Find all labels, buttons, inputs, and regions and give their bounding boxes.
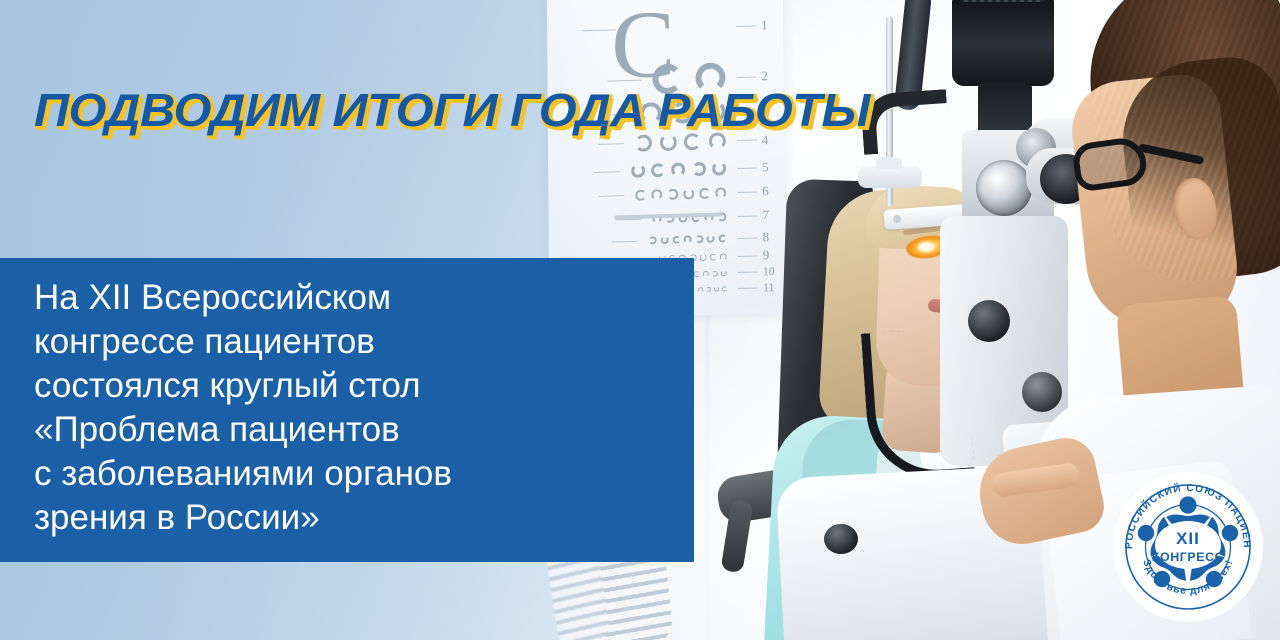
landolt-c-optotype: [692, 162, 706, 176]
logo-center-roman: XII: [1176, 529, 1200, 548]
landolt-c-optotype: [672, 236, 680, 244]
landolt-c-optotype: [712, 161, 726, 175]
banner-root: C 1234567891011: [0, 0, 1280, 640]
eye-chart-row: 1: [547, 17, 783, 40]
eye-chart-trailer-line: [737, 215, 757, 217]
eye-chart-trailer-line: [738, 271, 758, 273]
landolt-c-optotype: [694, 271, 700, 277]
landolt-c-optotype: [721, 270, 727, 276]
landolt-c-optotype: [695, 235, 703, 243]
eye-chart-trailer-line: [737, 139, 757, 141]
landolt-c-optotype: [671, 162, 685, 176]
landolt-c-optotype: [715, 187, 726, 198]
table-control-knob: [824, 524, 858, 554]
landolt-c-optotype: [706, 287, 711, 292]
eye-chart-trailer-line: [737, 191, 757, 193]
landolt-c-optotype: [707, 235, 715, 243]
landolt-c-optotype: [719, 234, 727, 242]
slit-lamp-knob-lower: [1022, 372, 1062, 412]
landolt-c-optotype: [651, 163, 665, 177]
eye-chart-trailer-line: [736, 25, 756, 27]
eye-chart-leader-line: [612, 240, 638, 242]
landolt-c-optotype: [703, 270, 709, 276]
eye-chart-optotypes: [649, 234, 727, 244]
landolt-c-optotype: [683, 188, 694, 199]
eye-chart-trailer-line: [737, 167, 757, 169]
eye-chart-row-number: 11: [763, 280, 785, 296]
landolt-c-optotype: [661, 236, 669, 244]
eye-chart-row-number: 5: [762, 159, 784, 176]
eye-chart-leader-line: [607, 79, 641, 81]
eye-chart-row-number: 9: [763, 247, 785, 264]
slit-lamp-objective-lens: [976, 160, 1032, 216]
eye-chart-leader-line: [594, 171, 620, 173]
eye-chart-row-number: 7: [762, 207, 784, 224]
landolt-c-optotype: [699, 187, 710, 198]
landolt-c-optotype: [667, 188, 678, 199]
landolt-c-optotype: [712, 270, 718, 276]
page-title: ПОДВОДИМ ИТОГИ ГОДА РАБОТЫ: [34, 82, 870, 138]
slit-lamp-illuminator-head: [952, 0, 1054, 86]
eye-chart-row: 5: [548, 159, 784, 182]
landolt-c-optotype: [636, 189, 647, 200]
eye-chart-optotypes: [631, 161, 726, 178]
landolt-c-optotype: [720, 253, 727, 260]
eye-chart-trailer-line: [738, 255, 758, 257]
landolt-c-optotype: [714, 287, 719, 292]
landolt-c-optotype: [631, 164, 645, 178]
eye-chart-leader-line: [599, 195, 625, 197]
slit-lamp-knob-upper: [968, 300, 1010, 342]
eye-chart-leader-line: [598, 143, 624, 145]
slit-lamp-light-core: [918, 242, 934, 252]
callout-body-text: На XII Всероссийском конгрессе пациентов…: [34, 276, 674, 540]
eye-chart-optotypes: [636, 187, 727, 201]
landolt-c-optotype: [698, 287, 703, 292]
eye-chart-row: 6: [548, 183, 784, 206]
slit-lamp-forehead-rest: [858, 166, 922, 188]
callout-panel: На XII Всероссийском конгрессе пациентов…: [0, 258, 694, 562]
logo-center-label: КОНГРЕСС: [1152, 550, 1224, 564]
landolt-c-optotype: [699, 253, 706, 260]
landolt-c-optotype: [684, 235, 692, 243]
eye-chart-row-number: 6: [762, 183, 784, 200]
eye-chart-trailer-line: [736, 76, 756, 78]
landolt-c-optotype: [652, 189, 663, 200]
eye-chart-row-number: 1: [761, 17, 783, 34]
eye-chart-row-number: 10: [763, 264, 785, 280]
landolt-c-optotype: [722, 286, 727, 291]
eye-chart-trailer-line: [738, 287, 758, 289]
eye-chart-leader-line: [582, 29, 616, 31]
congress-logo-badge[interactable]: ВСЕРОССИЙСКИЙ СОЮЗ ПАЦИЕНТОВ Здоровье дл…: [1112, 471, 1264, 623]
landolt-c-optotype: [710, 253, 717, 260]
eye-chart-row-spacer: [621, 26, 731, 29]
eye-chart-trailer-line: [738, 237, 758, 239]
landolt-c-optotype: [649, 236, 657, 244]
eye-chart-row-number: 8: [763, 229, 785, 246]
